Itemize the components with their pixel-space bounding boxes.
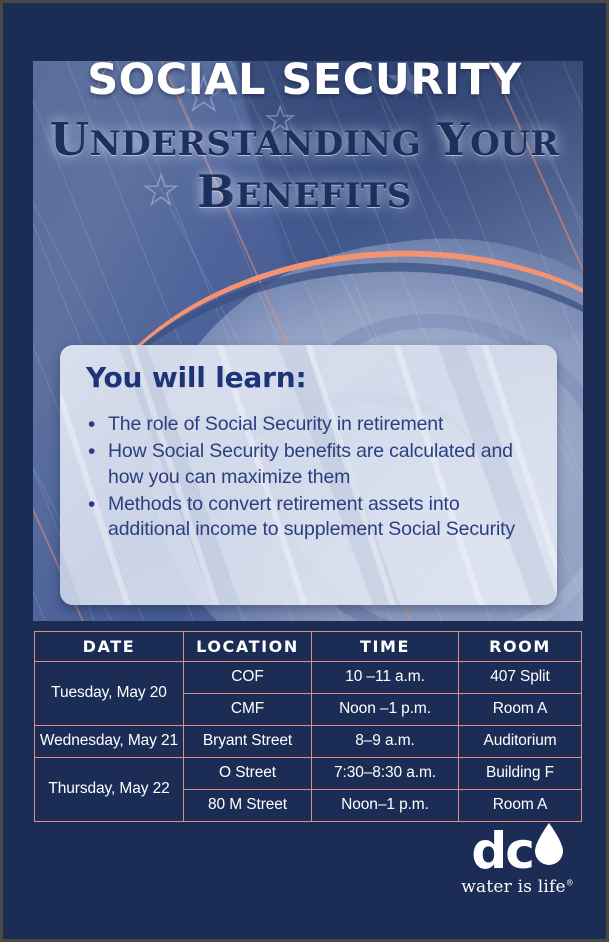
- cell-room: 407 Split: [459, 662, 582, 694]
- logo-tagline: water is life®: [461, 877, 574, 897]
- column-header-room: ROOM: [459, 632, 582, 662]
- learn-bullet-list: The role of Social Security in retiremen…: [86, 412, 531, 543]
- subtitle-text-enefits: ENEFITS: [236, 176, 412, 216]
- flyer-poster: ★ ★ ★ ★ ★ ★ ★ SOCIAL SECURITY UNDERSTAND…: [0, 0, 609, 942]
- cell-room: Building F: [459, 758, 582, 790]
- schedule-table: DATE LOCATION TIME ROOM Tuesday, May 20 …: [34, 631, 582, 822]
- table-row: Thursday, May 22 O Street 7:30–8:30 a.m.…: [35, 758, 582, 790]
- cell-location: O Street: [184, 758, 312, 790]
- table-header-row: DATE LOCATION TIME ROOM: [35, 632, 582, 662]
- logo-mark: dc: [461, 822, 574, 872]
- water-drop-icon: [534, 822, 564, 870]
- table-row: Wednesday, May 21 Bryant Street 8–9 a.m.…: [35, 726, 582, 758]
- cell-room: Room A: [459, 790, 582, 822]
- cell-time: 10 –11 a.m.: [312, 662, 459, 694]
- cell-location: COF: [184, 662, 312, 694]
- you-will-learn-panel: You will learn: The role of Social Secur…: [60, 345, 557, 605]
- page-subtitle: UNDERSTANDING YOUR BENEFITS: [3, 118, 606, 214]
- list-item: Methods to convert retirement assets int…: [86, 492, 531, 543]
- subtitle-cap-u: U: [50, 113, 90, 166]
- column-header-date: DATE: [35, 632, 184, 662]
- registered-mark: ®: [566, 878, 574, 887]
- subtitle-line-2: BENEFITS: [3, 170, 606, 214]
- cell-date: Wednesday, May 21: [35, 726, 184, 758]
- page-title: SOCIAL SECURITY: [3, 59, 606, 102]
- column-header-time: TIME: [312, 632, 459, 662]
- table-row: Tuesday, May 20 COF 10 –11 a.m. 407 Spli…: [35, 662, 582, 694]
- cell-location: Bryant Street: [184, 726, 312, 758]
- cell-location: CMF: [184, 694, 312, 726]
- subtitle-cap-b: B: [197, 165, 236, 218]
- column-header-location: LOCATION: [184, 632, 312, 662]
- cell-date: Thursday, May 22: [35, 758, 184, 822]
- cell-time: Noon–1 p.m.: [312, 790, 459, 822]
- cell-time: 7:30–8:30 a.m.: [312, 758, 459, 790]
- logo-tagline-text: water is life: [461, 877, 566, 897]
- cell-time: 8–9 a.m.: [312, 726, 459, 758]
- learn-panel-heading: You will learn:: [86, 361, 531, 394]
- header-titles: SOCIAL SECURITY UNDERSTANDING YOUR BENEF…: [3, 59, 606, 214]
- logo-wordmark: dc: [471, 831, 532, 872]
- cell-time: Noon –1 p.m.: [312, 694, 459, 726]
- subtitle-text-our: OUR: [470, 124, 559, 164]
- list-item: How Social Security benefits are calcula…: [86, 439, 531, 490]
- list-item: The role of Social Security in retiremen…: [86, 412, 531, 437]
- cell-date: Tuesday, May 20: [35, 662, 184, 726]
- subtitle-cap-y: Y: [421, 113, 470, 166]
- cell-room: Room A: [459, 694, 582, 726]
- dc-water-logo: dc water is life®: [461, 822, 574, 897]
- cell-location: 80 M Street: [184, 790, 312, 822]
- subtitle-line-1: UNDERSTANDING YOUR: [3, 118, 606, 162]
- subtitle-text-understanding: NDERSTANDING: [90, 124, 422, 164]
- cell-room: Auditorium: [459, 726, 582, 758]
